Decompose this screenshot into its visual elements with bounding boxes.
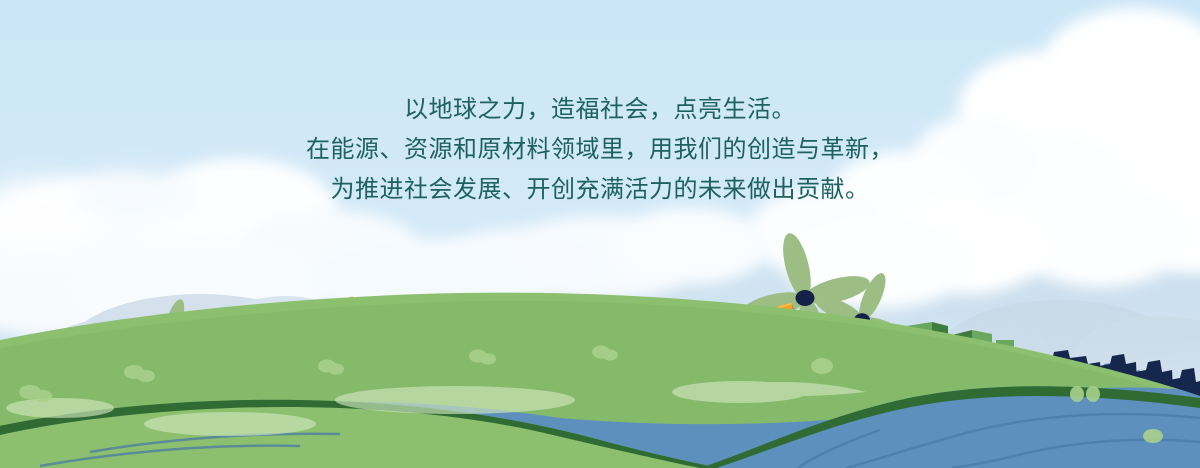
eco-hero-banner: 以地球之力，造福社会，点亮生活。 在能源、资源和原材料领域里，用我们的创造与革新… [0,0,1200,468]
landscape-illustration [0,0,1200,468]
